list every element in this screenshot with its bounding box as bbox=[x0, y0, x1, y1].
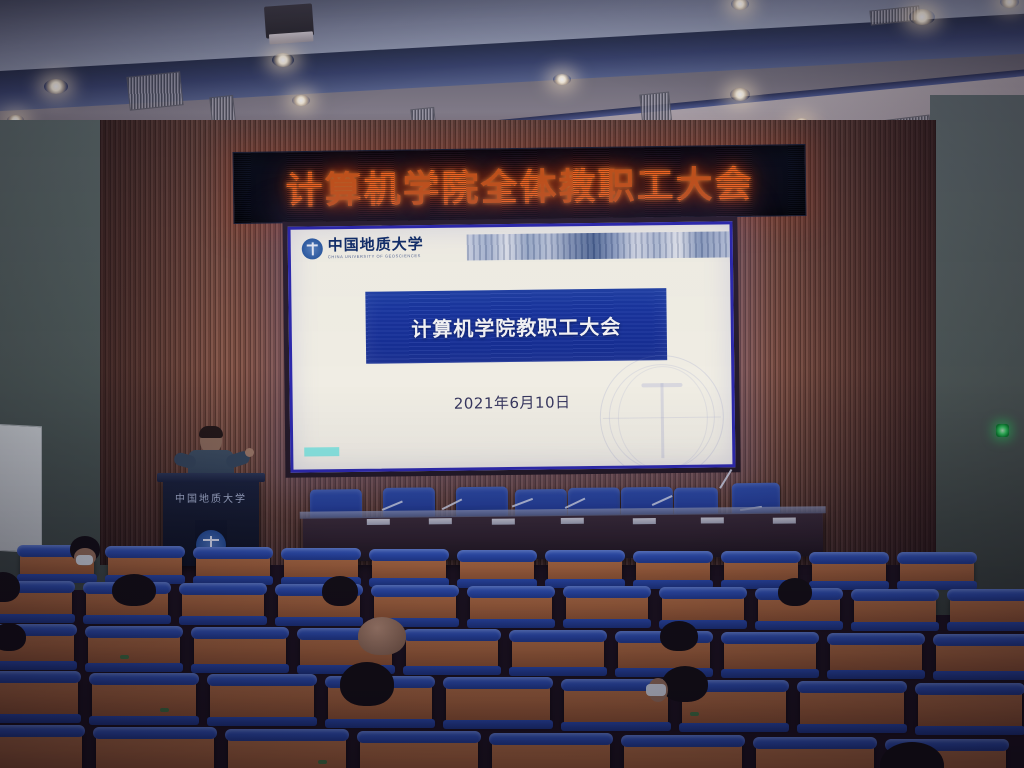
seat bbox=[470, 593, 552, 623]
seat-number-tag bbox=[120, 655, 129, 659]
seat bbox=[724, 639, 816, 673]
seat bbox=[406, 636, 498, 670]
seat bbox=[636, 558, 710, 584]
projection-screen: 中国地质大学 CHINA UNIVERSITY OF GEOSCIENCES 计… bbox=[288, 221, 736, 472]
seat bbox=[566, 593, 648, 623]
seat bbox=[460, 557, 534, 583]
projection-screen-frame: 中国地质大学 CHINA UNIVERSITY OF GEOSCIENCES 计… bbox=[282, 216, 740, 478]
face-mask-icon bbox=[646, 684, 666, 696]
nameplate bbox=[561, 518, 584, 524]
attendee-head bbox=[778, 578, 812, 606]
ceiling-light bbox=[553, 74, 571, 85]
seat bbox=[936, 641, 1024, 675]
attendee-head bbox=[662, 666, 708, 702]
air-vent-icon bbox=[126, 71, 183, 110]
nameplate bbox=[773, 518, 796, 524]
seat bbox=[900, 559, 974, 585]
seat bbox=[182, 590, 264, 620]
seat-number-tag bbox=[690, 712, 699, 716]
led-banner-text: 计算机学院全体教职工大会 bbox=[285, 154, 754, 215]
seat bbox=[360, 738, 478, 768]
seat bbox=[446, 684, 550, 724]
seat bbox=[228, 736, 346, 768]
slide-header: 中国地质大学 CHINA UNIVERSITY OF GEOSCIENCES bbox=[291, 224, 730, 267]
seat bbox=[812, 559, 886, 585]
wall-panel-left bbox=[0, 424, 42, 554]
speaker-hand bbox=[245, 448, 254, 457]
seat bbox=[92, 680, 196, 720]
face-mask-icon bbox=[76, 555, 93, 565]
university-name-en: CHINA UNIVERSITY OF GEOSCIENCES bbox=[328, 254, 424, 259]
seat-number-tag bbox=[318, 760, 327, 764]
attendee-head bbox=[112, 574, 156, 606]
seat bbox=[88, 633, 180, 667]
speaker-hair bbox=[199, 426, 223, 438]
seat bbox=[830, 640, 922, 674]
seat bbox=[548, 557, 622, 583]
auditorium-photo: 计算机学院全体教职工大会 中国地质大学 CHINA UNIVERSITY OF … bbox=[0, 0, 1024, 768]
seat bbox=[194, 634, 286, 668]
seat-number-tag bbox=[160, 708, 169, 712]
seat bbox=[108, 553, 182, 579]
slide-title: 计算机学院教职工大会 bbox=[411, 310, 621, 342]
nameplate bbox=[633, 518, 656, 524]
slide-accent-chip bbox=[304, 447, 339, 456]
attendee-head bbox=[322, 576, 358, 606]
seat bbox=[800, 688, 904, 728]
seat bbox=[918, 690, 1022, 730]
attendee-head bbox=[660, 621, 698, 651]
seat bbox=[210, 681, 314, 721]
seat bbox=[372, 556, 446, 582]
ceiling-light bbox=[44, 79, 68, 94]
seat bbox=[624, 742, 742, 768]
ceiling-light bbox=[909, 9, 935, 25]
nameplate bbox=[429, 518, 452, 524]
seat bbox=[854, 596, 936, 626]
nameplate bbox=[701, 517, 724, 523]
seat bbox=[96, 734, 214, 768]
attendee-head bbox=[340, 662, 394, 706]
podium-label: 中国地质大学 bbox=[163, 490, 259, 505]
exit-light-icon bbox=[996, 424, 1009, 437]
nameplate bbox=[367, 519, 390, 525]
university-logo: 中国地质大学 CHINA UNIVERSITY OF GEOSCIENCES bbox=[302, 237, 424, 259]
seat bbox=[756, 744, 874, 768]
ceiling-light bbox=[292, 95, 310, 106]
podium-top-surface bbox=[157, 473, 265, 482]
audience-seating bbox=[0, 536, 1024, 768]
ceiling-speaker-box bbox=[264, 3, 314, 38]
seat bbox=[0, 732, 82, 768]
led-banner: 计算机学院全体教职工大会 bbox=[233, 144, 807, 224]
slide-title-bar: 计算机学院教职工大会 bbox=[365, 288, 667, 364]
campus-photo-strip bbox=[467, 231, 731, 260]
slide-watermark-seal bbox=[599, 354, 725, 472]
attendee-head bbox=[358, 617, 406, 655]
ceiling-light bbox=[272, 53, 294, 67]
nameplate bbox=[492, 519, 515, 525]
university-name-cn: 中国地质大学 bbox=[328, 237, 424, 253]
seat bbox=[196, 554, 270, 580]
seat bbox=[512, 637, 604, 671]
university-seal-icon bbox=[302, 238, 323, 259]
seat bbox=[662, 594, 744, 624]
seat bbox=[950, 596, 1024, 626]
attendee-head bbox=[0, 623, 26, 651]
seat bbox=[492, 740, 610, 768]
ceiling-light bbox=[730, 88, 750, 101]
seat bbox=[0, 678, 78, 718]
